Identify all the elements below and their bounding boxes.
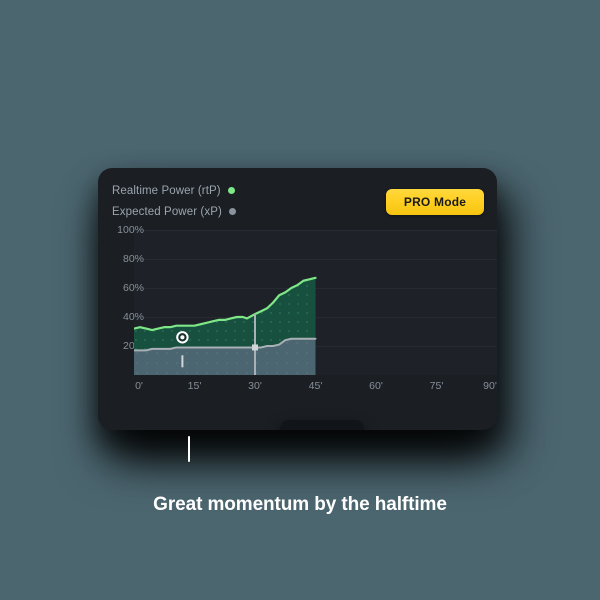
x-axis-tick-label: 75' [430, 380, 444, 392]
chart-legend: Realtime Power (rtP) Expected Power (xP) [112, 180, 236, 222]
x-axis-tick-label: 30' [248, 380, 262, 392]
marker-stub [181, 355, 183, 367]
legend-dot-icon [228, 187, 235, 194]
x-axis-tick-label: 0' [135, 380, 143, 392]
caption-text: Great momentum by the halftime [0, 494, 600, 516]
chart-svg [134, 230, 497, 375]
x-axis-tick-label: 45' [309, 380, 323, 392]
legend-item-xp[interactable]: Expected Power (xP) [112, 201, 236, 222]
x-axis-tick-label: 15' [188, 380, 202, 392]
callout-pointer-line [188, 436, 190, 462]
legend-label-rtp: Realtime Power (rtP) [112, 185, 221, 197]
cursor-xp-marker [252, 344, 258, 350]
hover-marker-core [180, 335, 184, 339]
x-axis-tick-label: 60' [369, 380, 383, 392]
pro-mode-button[interactable]: PRO Mode [386, 189, 484, 215]
screenshot-root: Realtime Power (rtP) Expected Power (xP)… [0, 0, 600, 600]
legend-label-xp: Expected Power (xP) [112, 206, 222, 218]
power-chart-card: Realtime Power (rtP) Expected Power (xP)… [98, 168, 497, 430]
tooltip-time: 28 min [290, 428, 354, 430]
chart-tooltip: 28 min 39 rtP 19 XP [280, 420, 364, 430]
chart-plot-area[interactable]: 20%40%60%80%100% 0'15'30'45'60'75'90' [98, 230, 497, 430]
legend-item-rtp[interactable]: Realtime Power (rtP) [112, 180, 236, 201]
x-axis-tick-label: 90' [483, 380, 497, 392]
legend-dot-icon [229, 208, 236, 215]
